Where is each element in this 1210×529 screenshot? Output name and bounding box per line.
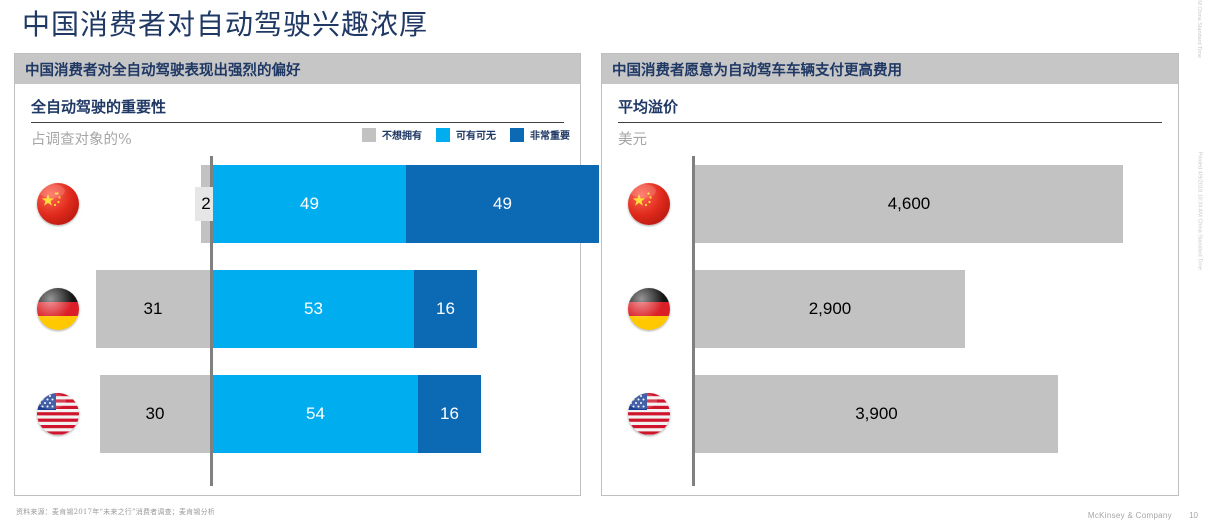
page-title: 中国消费者对自动驾驶兴趣浓厚 [22, 8, 428, 42]
flag-usa-icon [628, 393, 670, 435]
left-panel: 中国消费者对全自动驾驶表现出强烈的偏好 全自动驾驶的重要性 占调查对象的% 不想… [14, 53, 581, 496]
left-bar-usa-gray: 30 [100, 375, 210, 453]
right-panel: 中国消费者愿意为自动驾车车辆支付更高费用 平均溢价 美元 [601, 53, 1179, 496]
left-chart-row-china: 2 49 49 [15, 165, 580, 243]
brand-label: McKinsey & Company [1088, 511, 1172, 520]
flag-germany-icon [37, 288, 79, 330]
flag-china-icon [37, 183, 79, 225]
left-bar-germany-darkblue-value: 16 [436, 299, 455, 319]
right-bar-usa: 3,900 [695, 375, 1058, 453]
right-bar-usa-value: 3,900 [855, 404, 898, 424]
flag-china-icon [628, 183, 670, 225]
left-bar-germany-gray-value: 31 [144, 299, 163, 319]
last-modified-stamp: Last Modified 4/9/2018 3:20 PM China Sta… [1196, 0, 1202, 58]
left-chart-row-usa: 30 54 16 [15, 375, 580, 453]
right-bar-china: 4,600 [695, 165, 1123, 243]
right-panel-header-label: 中国消费者愿意为自动驾车车辆支付更高费用 [612, 59, 902, 80]
left-bar-usa-lightblue-value: 54 [306, 404, 325, 424]
page-number: 10 [1189, 511, 1198, 520]
right-bar-china-value: 4,600 [888, 194, 931, 214]
left-bar-usa-gray-value: 30 [146, 404, 165, 424]
slide: 中国消费者对自动驾驶兴趣浓厚 中国消费者对全自动驾驶表现出强烈的偏好 全自动驾驶… [0, 0, 1210, 529]
left-bar-germany-gray: 31 [96, 270, 210, 348]
right-panel-header: 中国消费者愿意为自动驾车车辆支付更高费用 [602, 54, 1178, 84]
left-bar-germany-darkblue: 16 [414, 270, 477, 348]
left-bar-usa-darkblue: 16 [418, 375, 481, 453]
left-chart-plot: 2 49 49 [15, 84, 580, 495]
left-panel-header: 中国消费者对全自动驾驶表现出强烈的偏好 [15, 54, 580, 84]
left-bar-usa-lightblue: 54 [213, 375, 418, 453]
right-bar-germany-value: 2,900 [809, 299, 852, 319]
left-bar-china-darkblue-value: 49 [493, 194, 512, 214]
printed-stamp: Printed 4/9/2018 10:34 AM China Standard… [1196, 152, 1202, 270]
flag-usa-icon [37, 393, 79, 435]
right-bar-germany: 2,900 [695, 270, 965, 348]
left-bar-usa-darkblue-value: 16 [440, 404, 459, 424]
left-bar-germany-lightblue-value: 53 [304, 299, 323, 319]
source-note: 资料来源：麦肯锡2017年“未来之行”消费者调查；麦肯锡分析 [16, 507, 215, 517]
left-bar-china-lightblue: 49 [213, 165, 406, 243]
left-bar-china-lightblue-value: 49 [300, 194, 319, 214]
left-panel-header-label: 中国消费者对全自动驾驶表现出强烈的偏好 [25, 59, 301, 80]
right-chart-row-china: 4,600 [602, 165, 1178, 243]
left-panel-body: 全自动驾驶的重要性 占调查对象的% 不想拥有 可有可无 非常重要 [15, 84, 580, 495]
left-bar-germany-lightblue: 53 [213, 270, 414, 348]
right-chart-row-usa: 3,900 [602, 375, 1178, 453]
left-chart-row-germany: 31 53 16 [15, 270, 580, 348]
left-bar-china-darkblue: 49 [406, 165, 599, 243]
right-panel-body: 平均溢价 美元 [602, 84, 1178, 495]
right-chart-plot: 4,600 2,900 [602, 84, 1178, 495]
right-chart-row-germany: 2,900 [602, 270, 1178, 348]
flag-germany-icon [628, 288, 670, 330]
